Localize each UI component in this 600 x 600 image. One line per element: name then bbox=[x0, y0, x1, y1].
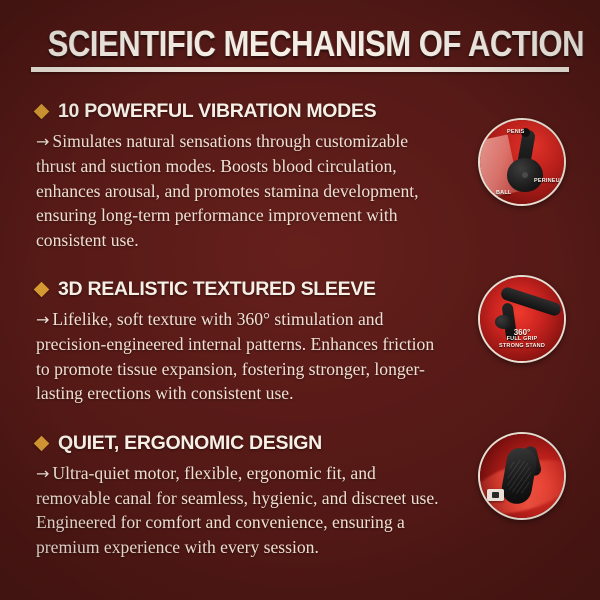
feature-body: →Lifelike, soft texture with 360° stimul… bbox=[36, 307, 440, 406]
feature-title: 3D REALISTIC TEXTURED SLEEVE bbox=[58, 278, 376, 301]
feature-heading-row: 10 POWERFUL VIBRATION MODES bbox=[36, 100, 440, 123]
feature-text-block: 3D REALISTIC TEXTURED SLEEVE →Lifelike, … bbox=[36, 278, 440, 406]
feature-body-text: Ultra-quiet motor, flexible, ergonomic f… bbox=[36, 463, 439, 557]
page-title-block: SCIENTIFIC MECHANISM OF ACTION bbox=[0, 24, 600, 72]
sleeve-caption-line2: STRONG STAND bbox=[480, 343, 564, 350]
anatomy-label-right: PERINEUM bbox=[534, 178, 565, 184]
device-remote-shape bbox=[487, 489, 504, 501]
device-button-shape bbox=[522, 172, 528, 178]
product-photo-3 bbox=[480, 434, 564, 518]
feature-body: →Ultra-quiet motor, flexible, ergonomic … bbox=[36, 461, 440, 560]
arrow-icon: → bbox=[36, 310, 52, 329]
anatomy-label-top: PENIS bbox=[507, 129, 525, 135]
diamond-bullet-icon bbox=[34, 104, 50, 120]
sleeve-caption: 360° FULL GRIP STRONG STAND bbox=[480, 329, 564, 350]
feature-body-text: Lifelike, soft texture with 360° stimula… bbox=[36, 309, 434, 403]
feature-title: 10 POWERFUL VIBRATION MODES bbox=[58, 100, 376, 123]
product-image-vibration-modes: PENIS PERINEUM BALL bbox=[478, 118, 566, 206]
feature-body-text: Simulates natural sensations through cus… bbox=[36, 131, 419, 250]
feature-heading-row: QUIET, ERGONOMIC DESIGN bbox=[36, 432, 440, 455]
anatomy-label-bottom: BALL bbox=[496, 190, 511, 196]
sleeve-caption-degrees: 360° bbox=[480, 329, 564, 336]
page-title: SCIENTIFIC MECHANISM OF ACTION bbox=[44, 24, 587, 64]
diamond-bullet-icon bbox=[34, 435, 50, 451]
feature-title: QUIET, ERGONOMIC DESIGN bbox=[58, 432, 322, 455]
product-photo-2: 360° FULL GRIP STRONG STAND bbox=[480, 277, 564, 361]
arrow-icon: → bbox=[36, 464, 52, 483]
feature-heading-row: 3D REALISTIC TEXTURED SLEEVE bbox=[36, 278, 440, 301]
arrow-icon: → bbox=[36, 132, 52, 151]
feature-text-block: 10 POWERFUL VIBRATION MODES →Simulates n… bbox=[36, 100, 440, 252]
title-underline bbox=[31, 67, 569, 72]
product-image-ergonomic-design bbox=[478, 432, 566, 520]
feature-body: →Simulates natural sensations through cu… bbox=[36, 129, 440, 252]
product-photo-1: PENIS PERINEUM BALL bbox=[480, 120, 564, 204]
product-image-textured-sleeve: 360° FULL GRIP STRONG STAND bbox=[478, 275, 566, 363]
sleeve-head-shape bbox=[495, 315, 512, 329]
diamond-bullet-icon bbox=[34, 282, 50, 298]
feature-text-block: QUIET, ERGONOMIC DESIGN →Ultra-quiet mot… bbox=[36, 432, 440, 560]
sleeve-caption-line1: FULL GRIP bbox=[480, 336, 564, 343]
